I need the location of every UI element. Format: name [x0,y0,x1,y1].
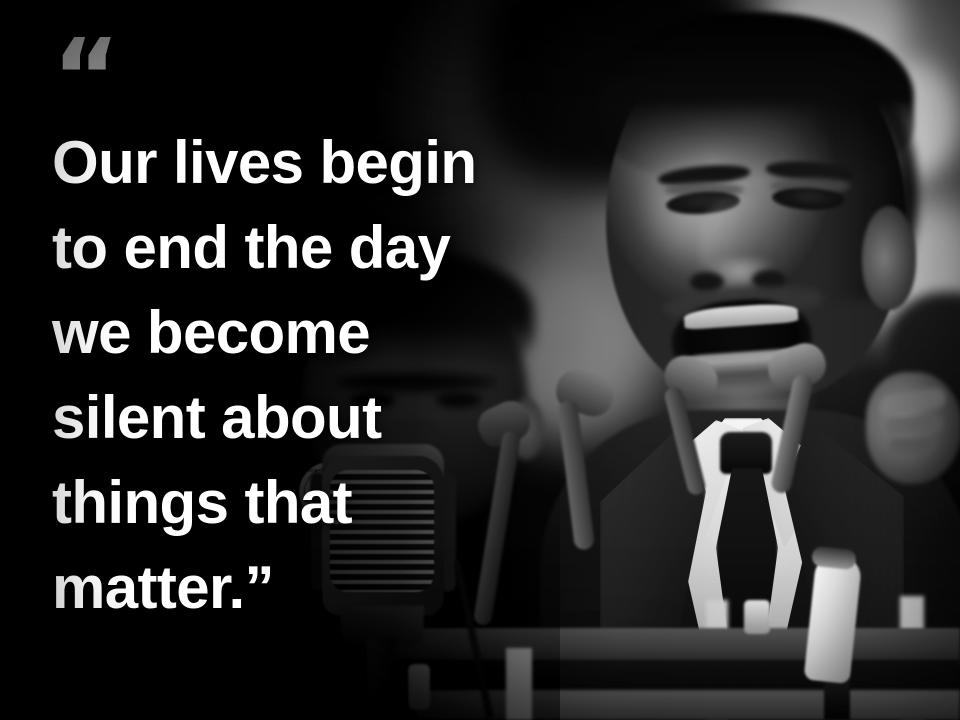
background-hand-finger-3 [888,438,936,454]
quote-line-6: matter.” [52,545,620,630]
quote-line-5: things that [52,460,620,545]
quote-block: “ Our lives begin to end the day we beco… [0,0,620,720]
speaker-tie-knot [720,432,772,474]
quote-line-2: to end the day [52,205,620,290]
quote-text: Our lives begin to end the day we become… [52,120,620,630]
opening-quotation-mark-icon: “ [52,40,620,114]
quote-line-1: Our lives begin [52,120,620,205]
speaker-nostril-left [690,272,724,292]
small-mic-center [744,600,770,634]
quote-line-3: we become [52,290,620,375]
quote-graphic: MARCH ON WASHINGTON JOBS & FREEDOM AUGUS… [0,0,960,720]
speaker-ear [862,206,916,310]
quote-line-4: silent about [52,375,620,460]
